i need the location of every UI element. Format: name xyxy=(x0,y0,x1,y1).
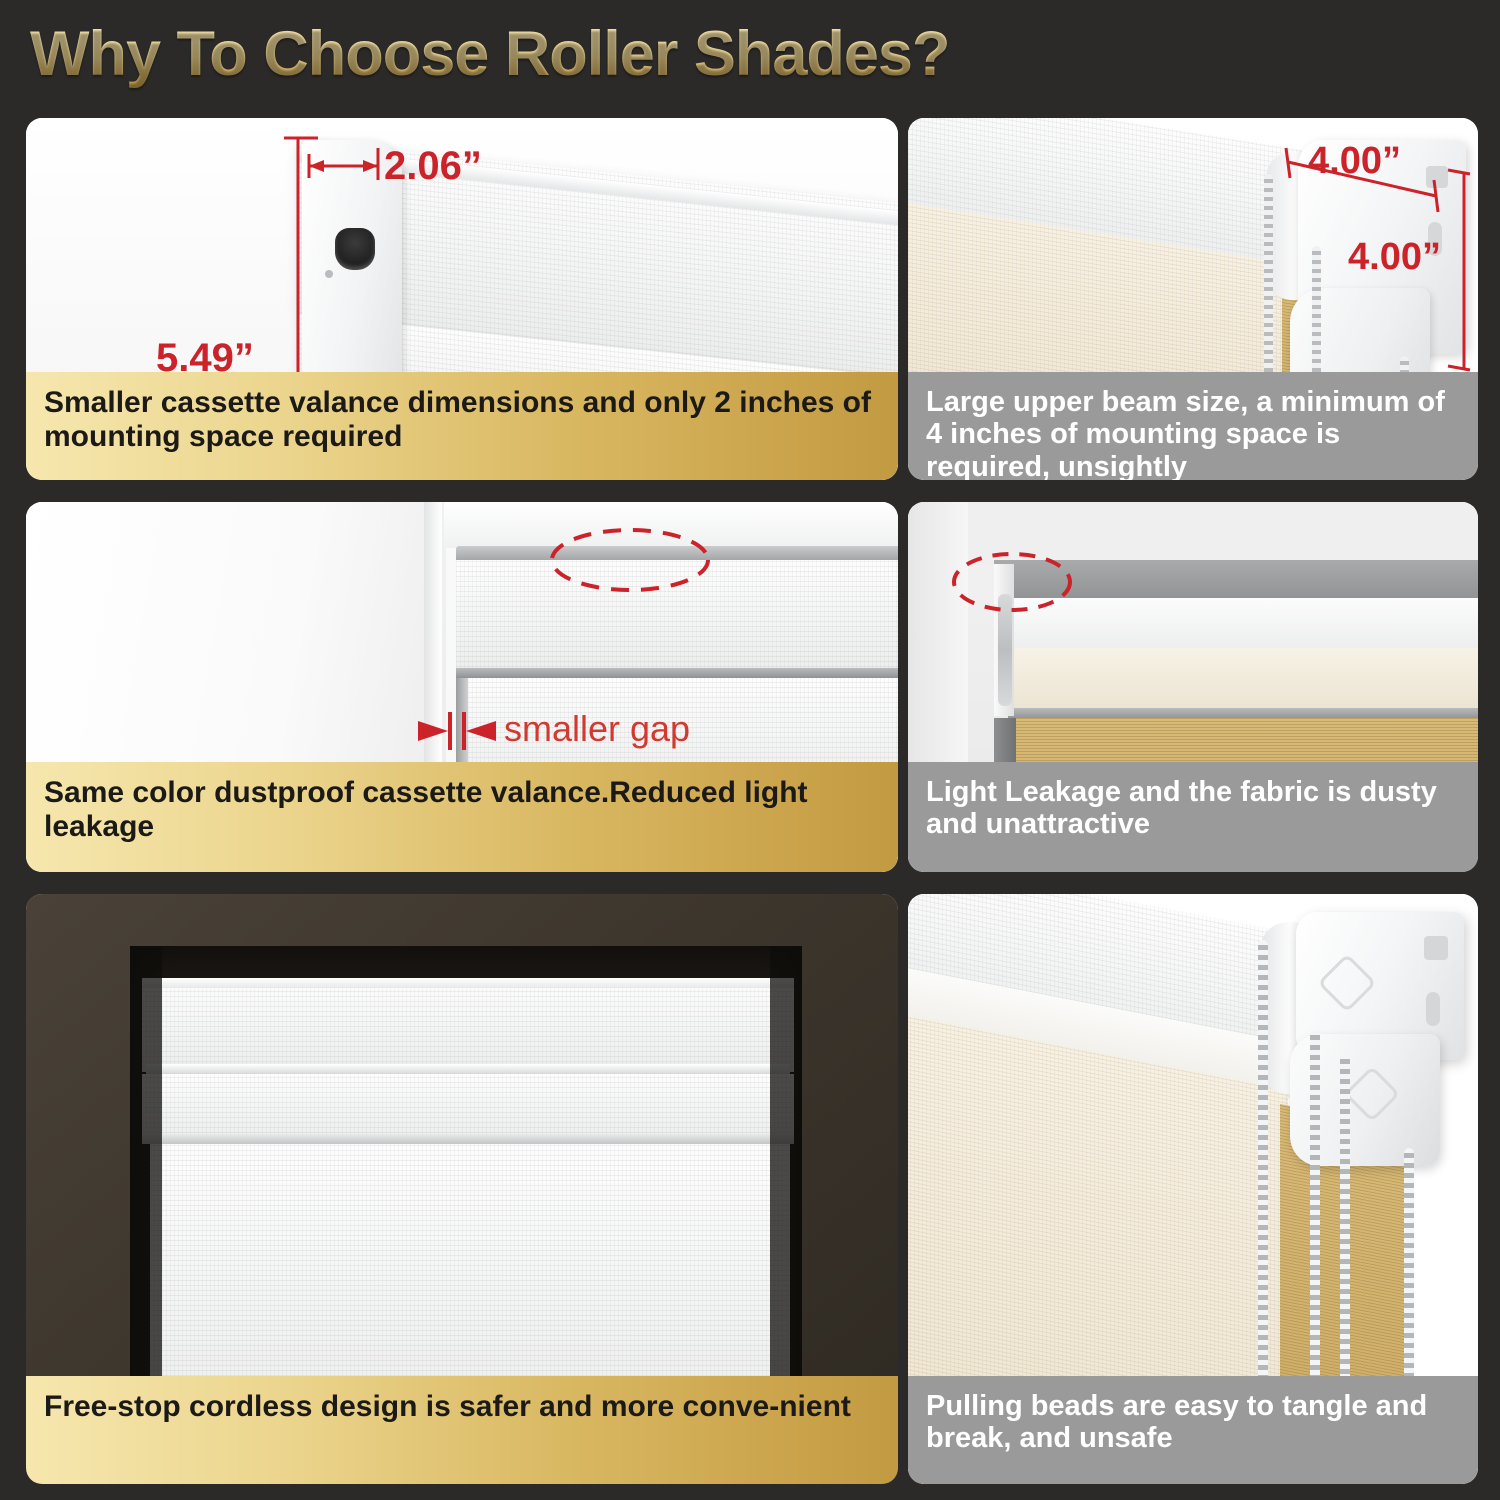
cassette-headrail xyxy=(142,978,794,1072)
dimension-label-beam-width: 4.00” xyxy=(1308,140,1401,183)
bracket-clip xyxy=(998,594,1012,706)
wall-upper xyxy=(908,502,1478,566)
caption-bottom-left: Free-stop cordless design is safer and m… xyxy=(26,1376,898,1484)
panel-grid: 2.06” 5.49” Smaller cassette valance dim… xyxy=(26,118,1478,1484)
caption-middle-left: Same color dustproof cassette valance.Re… xyxy=(26,762,898,872)
fabric-cream-band xyxy=(1004,648,1478,710)
panel-bottom-left: Free-stop cordless design is safer and m… xyxy=(26,894,898,1484)
end-cap-screw-mid xyxy=(325,270,333,278)
bracket-slot-top xyxy=(1424,936,1448,960)
bracket-notch-top xyxy=(1426,166,1448,188)
caption-bottom-right: Pulling beads are easy to tangle and bre… xyxy=(908,1376,1478,1484)
roller-tube-face xyxy=(994,598,1478,652)
end-cap-slot xyxy=(335,228,375,270)
panel-bottom-right: Pulling beads are easy to tangle and bre… xyxy=(908,894,1478,1484)
gap-label-smaller: smaller gap xyxy=(504,708,690,750)
page-title: Why To Choose Roller Shades? xyxy=(30,18,949,90)
panel-top-left: 2.06” 5.49” Smaller cassette valance dim… xyxy=(26,118,898,480)
headrail-top-highlight xyxy=(142,978,794,988)
bottom-rail-edge xyxy=(1008,708,1478,718)
caption-top-left: Smaller cassette valance dimensions and … xyxy=(26,372,898,480)
cassette-valance-face xyxy=(456,560,898,672)
roller-front-face xyxy=(142,1074,794,1138)
caption-top-right: Large upper beam size, a minimum of 4 in… xyxy=(908,372,1478,480)
panel-top-right: 4.00” 4.00” Large upper beam size, a min… xyxy=(908,118,1478,480)
dimension-label-width: 2.06” xyxy=(384,144,482,189)
caption-middle-right: Light Leakage and the fabric is dusty an… xyxy=(908,762,1478,872)
valance-bottom-lip xyxy=(456,668,898,678)
window-casing-top xyxy=(444,502,898,548)
bracket-slot-mid xyxy=(1426,992,1440,1026)
dimension-label-beam-height: 4.00” xyxy=(1348,236,1441,279)
infographic-page: Why To Choose Roller Shades? xyxy=(0,0,1500,1500)
panel-middle-left: smaller gap Same color dustproof cassett… xyxy=(26,502,898,872)
roller-bottom-lip xyxy=(142,1134,794,1144)
panel-middle-right: Large gap Light Leakage and the fabric i… xyxy=(908,502,1478,872)
